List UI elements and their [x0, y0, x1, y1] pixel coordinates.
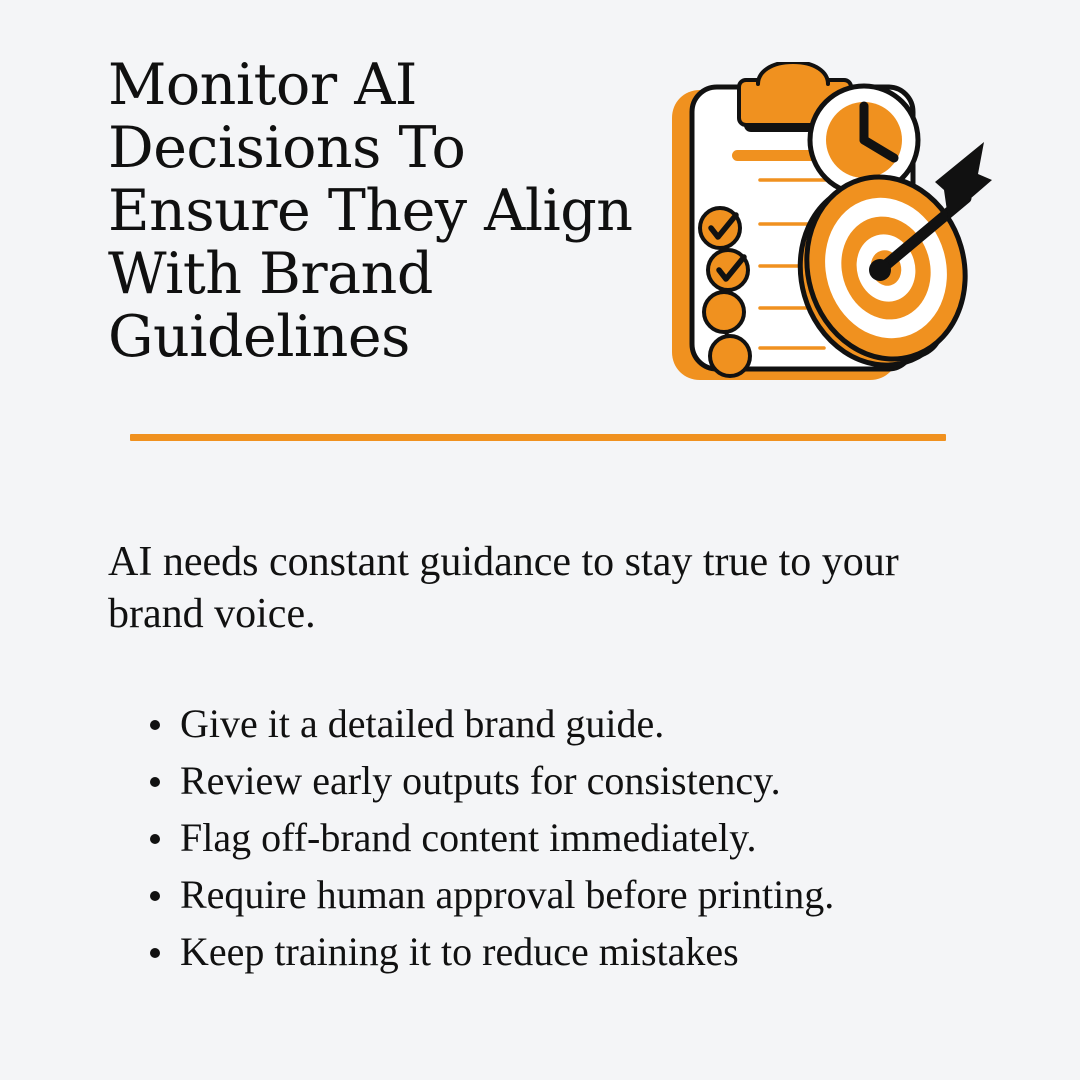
- accent-divider: [130, 434, 946, 441]
- list-item: Review early outputs for consistency.: [108, 755, 1008, 806]
- list-item: Give it a detailed brand guide.: [108, 698, 1008, 749]
- card-header: Monitor AI Decisions To Ensure They Alig…: [0, 0, 1080, 420]
- list-item: Keep training it to reduce mistakes: [108, 926, 1008, 977]
- bullet-dot-icon: [150, 720, 160, 730]
- page-title: Monitor AI Decisions To Ensure They Alig…: [108, 54, 648, 369]
- list-item-label: Keep training it to reduce mistakes: [180, 929, 739, 974]
- list-item-label: Flag off-brand content immediately.: [180, 815, 757, 860]
- headline-line-1: Monitor AI: [108, 54, 648, 117]
- bullet-dot-icon: [150, 777, 160, 787]
- list-item-label: Require human approval before printing.: [180, 872, 834, 917]
- list-item: Require human approval before printing.: [108, 869, 1008, 920]
- social-card: Monitor AI Decisions To Ensure They Alig…: [0, 0, 1080, 1080]
- bullet-dot-icon: [150, 891, 160, 901]
- bullet-dot-icon: [150, 948, 160, 958]
- bullet-dot-icon: [150, 834, 160, 844]
- headline-line-4: With Brand: [108, 243, 648, 306]
- headline-line-2: Decisions To: [108, 117, 648, 180]
- headline-line-3: Ensure They Align: [108, 180, 648, 243]
- lede-paragraph: AI needs constant guidance to stay true …: [108, 536, 968, 640]
- clipboard-checklist-clock-target-illustration: [648, 62, 992, 402]
- list-item-label: Give it a detailed brand guide.: [180, 701, 664, 746]
- headline-line-5: Guidelines: [108, 306, 648, 369]
- list-item: Flag off-brand content immediately.: [108, 812, 1008, 863]
- card-body: AI needs constant guidance to stay true …: [108, 536, 1008, 983]
- list-item-label: Review early outputs for consistency.: [180, 758, 781, 803]
- bullet-list: Give it a detailed brand guide. Review e…: [108, 698, 1008, 977]
